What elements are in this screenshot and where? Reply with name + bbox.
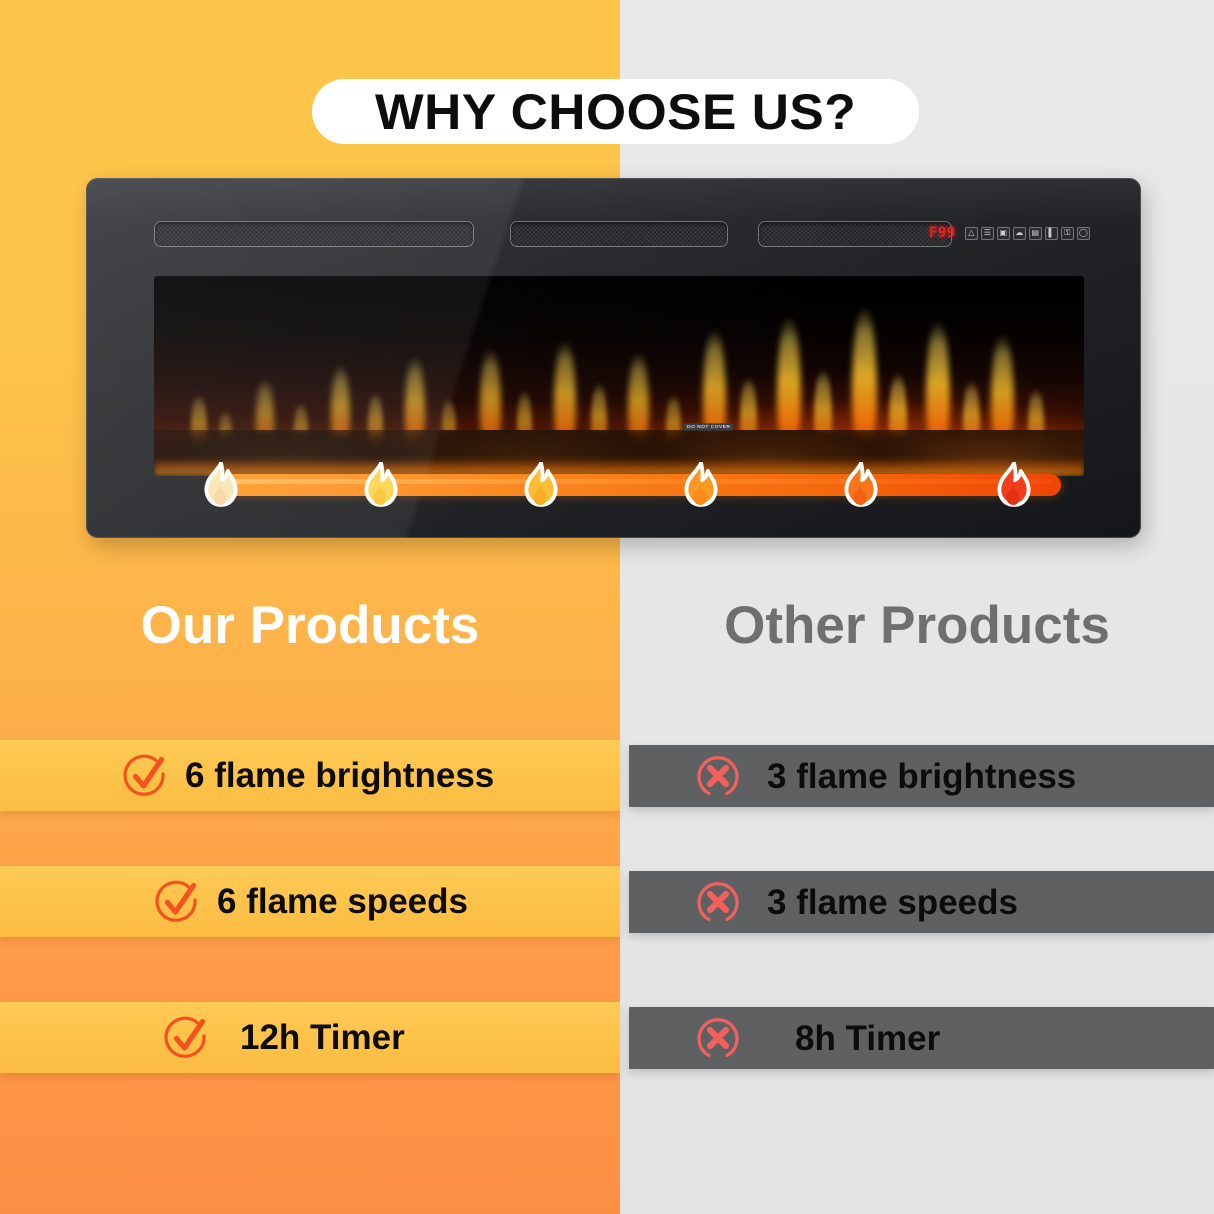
column-header-others-label: Other Products <box>724 599 1110 652</box>
check-circle-icon <box>155 879 201 925</box>
led-display: F99 <box>929 225 956 241</box>
row-label-others: 3 flame speeds <box>767 885 1018 920</box>
power-icon[interactable]: △ <box>965 227 978 240</box>
column-header-ours-label: Our Products <box>141 599 480 652</box>
table-row: 8h Timer <box>629 1007 1214 1069</box>
x-circle-icon <box>695 1015 741 1061</box>
heat-icon[interactable]: ▣ <box>997 227 1010 240</box>
do-not-cover-label: DO NOT COVER <box>684 423 733 430</box>
row-label-others: 3 flame brightness <box>767 759 1076 794</box>
row-label-others: 8h Timer <box>795 1021 940 1056</box>
vent-right <box>758 221 952 247</box>
control-panel: F99 △ ☰ ▣ ☁ ▤ ▌ ⚿ ◯ <box>929 218 1083 248</box>
fireplace-product-image: DO NOT COVER F99 △ ☰ ▣ ☁ ▤ ▌ ⚿ ◯ <box>86 178 1141 538</box>
page-title: WHY CHOOSE US? <box>375 87 856 137</box>
vent-center <box>510 221 728 247</box>
flame-level-icon-2 <box>358 462 404 514</box>
thermometer-icon[interactable]: ▌ <box>1045 227 1058 240</box>
check-circle-icon <box>123 753 169 799</box>
table-row: 6 flame brightness <box>0 740 620 811</box>
lock-icon[interactable]: ⚿ <box>1061 227 1074 240</box>
table-row: 12h Timer <box>0 1002 620 1073</box>
flame-icon[interactable]: ☁ <box>1013 227 1026 240</box>
panel-button-row: △ ☰ ▣ ☁ ▤ ▌ ⚿ ◯ <box>965 227 1090 240</box>
flame-level-icon-3 <box>518 462 564 514</box>
check-circle-icon <box>164 1015 210 1061</box>
page-title-pill: WHY CHOOSE US? <box>312 79 919 144</box>
flame-level-icon-4 <box>678 462 724 514</box>
flame-level-icon-6 <box>991 462 1037 514</box>
row-label-ours: 6 flame speeds <box>217 884 468 919</box>
timer-icon[interactable]: ◯ <box>1077 227 1090 240</box>
flame-display-window <box>154 276 1084 476</box>
column-header-ours: Our Products <box>0 588 620 662</box>
table-row: 3 flame brightness <box>629 745 1214 807</box>
row-label-ours: 12h Timer <box>240 1020 405 1055</box>
flame-level-icon-5 <box>838 462 884 514</box>
table-row: 3 flame speeds <box>629 871 1214 933</box>
flame-brightness-bar <box>209 474 1061 496</box>
x-circle-icon <box>695 879 741 925</box>
table-row: 6 flame speeds <box>0 866 620 937</box>
column-header-others: Other Products <box>620 588 1214 662</box>
vent-left <box>154 221 474 247</box>
x-circle-icon <box>695 753 741 799</box>
brightness-icon[interactable]: ▤ <box>1029 227 1042 240</box>
flame-level-icon-1 <box>198 462 244 514</box>
fan-icon[interactable]: ☰ <box>981 227 994 240</box>
row-label-ours: 6 flame brightness <box>185 758 494 793</box>
infographic-canvas: WHY CHOOSE US? DO NOT COVER F99 △ ☰ ▣ ☁ … <box>0 0 1214 1214</box>
